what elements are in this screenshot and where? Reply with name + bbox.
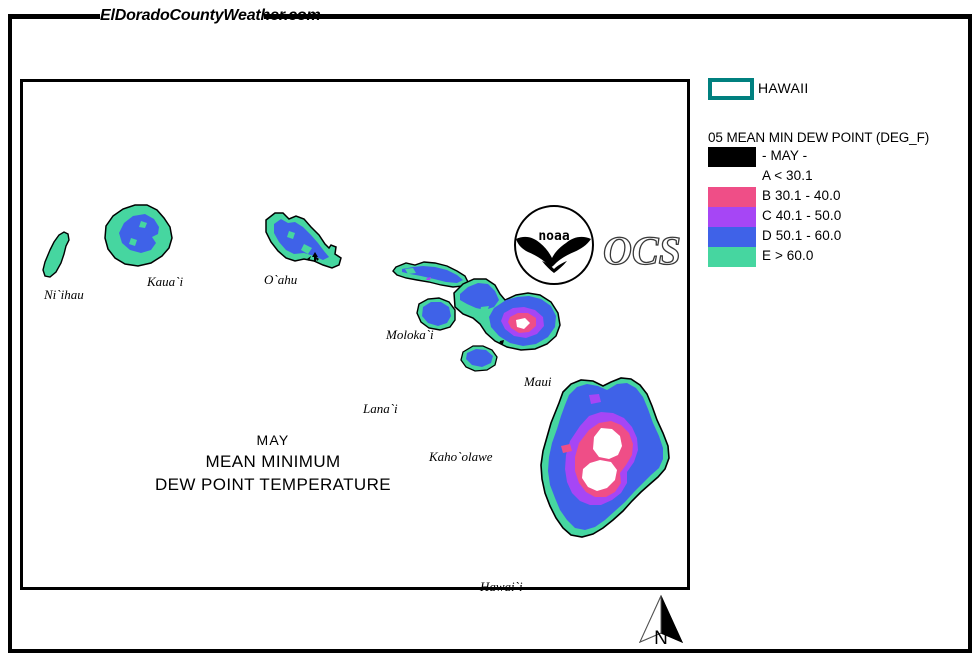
- legend-swatch-may: [708, 147, 756, 167]
- island-niihau: [43, 232, 69, 277]
- border-left: [8, 16, 12, 653]
- legend: HAWAII 05 MEAN MIN DEW POINT (DEG_F) - M…: [704, 74, 974, 110]
- map-title-block: MAY MEAN MINIMUM DEW POINT TEMPERATURE: [83, 430, 463, 496]
- island-label-maui: Maui: [524, 374, 551, 390]
- map-title-line1: MEAN MINIMUM: [83, 450, 463, 473]
- island-label-molokai: Moloka`i: [386, 327, 434, 343]
- island-kahoolawe: [461, 340, 504, 371]
- site-title: ElDoradoCountyWeather.com: [100, 4, 270, 28]
- noaa-logo: noaa: [511, 204, 597, 286]
- island-label-kauai: Kaua`i: [147, 274, 183, 290]
- map-title-month: MAY: [83, 430, 463, 450]
- north-letter: N: [630, 628, 692, 650]
- island-label-lanai: Lana`i: [363, 401, 398, 417]
- island-label-hawaii: Hawai`i: [480, 579, 523, 595]
- legend-swatch-e: [708, 247, 756, 267]
- island-oahu: [266, 213, 341, 268]
- legend-swatch-b: [708, 187, 756, 207]
- legend-label-d: D 50.1 - 60.0: [762, 228, 841, 243]
- island-kauai: [105, 205, 172, 266]
- island-label-oahu: O`ahu: [264, 272, 297, 288]
- border-bottom: [8, 649, 972, 653]
- island-maui: [454, 279, 560, 350]
- island-molokai: [393, 262, 468, 287]
- ocs-wordmark: OCS: [603, 228, 681, 273]
- island-label-niihau: Ni`ihau: [44, 287, 84, 303]
- title-rule-left: [8, 14, 100, 19]
- hawaii-outline-swatch: [708, 78, 754, 100]
- legend-swatch-a: [708, 167, 756, 187]
- legend-label-a: A < 30.1: [762, 168, 813, 183]
- ocs-logo: OCS: [601, 222, 693, 278]
- map-panel[interactable]: Ni`ihau Kaua`i O`ahu Moloka`i Lana`i Mau…: [20, 79, 690, 590]
- legend-label-c: C 40.1 - 50.0: [762, 208, 841, 223]
- title-rule-right: [264, 14, 972, 19]
- legend-label-b: B 30.1 - 40.0: [762, 188, 841, 203]
- legend-swatch-c: [708, 207, 756, 227]
- legend-title: 05 MEAN MIN DEW POINT (DEG_F): [708, 130, 929, 145]
- hawaii-label: HAWAII: [758, 80, 809, 96]
- map-title-line2: DEW POINT TEMPERATURE: [83, 473, 463, 496]
- legend-label-e: E > 60.0: [762, 248, 813, 263]
- legend-swatch-d: [708, 227, 756, 247]
- noaa-wordmark: noaa: [538, 229, 569, 244]
- border-right: [968, 16, 972, 653]
- legend-label-may: - MAY -: [762, 148, 807, 163]
- island-hawaii: [541, 378, 669, 537]
- island-lanai: [417, 298, 455, 330]
- map-canvas: [23, 82, 687, 587]
- legend-region-row: HAWAII: [704, 74, 974, 110]
